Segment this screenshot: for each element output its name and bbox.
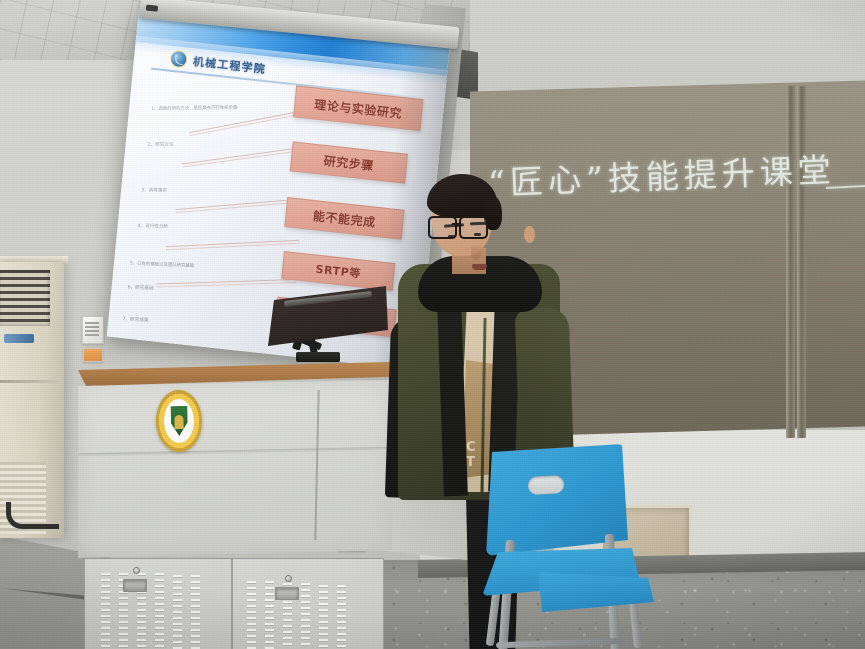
lens-right bbox=[459, 216, 488, 239]
mouth-open-speaking bbox=[472, 264, 487, 270]
glasses-bridge bbox=[452, 223, 461, 225]
wall-notice-plate bbox=[82, 316, 104, 344]
podium-cabinet-door-left[interactable] bbox=[84, 558, 232, 649]
ac-panel-seam bbox=[0, 380, 60, 383]
cabinet-handle-left[interactable] bbox=[123, 579, 147, 592]
cabinet-handle-right[interactable] bbox=[275, 587, 299, 600]
cabinet-lock-right[interactable] bbox=[285, 575, 292, 582]
school-crest-logo bbox=[169, 50, 188, 69]
monitor-base bbox=[296, 352, 340, 362]
nose bbox=[471, 246, 481, 260]
tshirt-letters: C T bbox=[466, 440, 481, 470]
floor-standing-air-conditioner bbox=[0, 262, 64, 538]
wall-warning-plate bbox=[83, 348, 103, 362]
podium-cabinet-door-right[interactable] bbox=[232, 558, 384, 649]
slide-side-label: 1、选题的研究方法、是否具有可行性和价值 bbox=[151, 105, 237, 112]
slide-side-label: 6、研究基础 bbox=[128, 284, 154, 291]
ac-drain-hose bbox=[6, 502, 59, 529]
blackboard-slide-rail bbox=[797, 86, 806, 438]
roller-end-cap bbox=[146, 5, 159, 12]
cabinet-lock-left[interactable] bbox=[133, 567, 140, 574]
eyeglasses bbox=[428, 216, 486, 236]
lens-left bbox=[428, 216, 457, 239]
slide-side-label: 2、研究方法 bbox=[148, 142, 174, 148]
blackboard-slide-rail bbox=[786, 86, 795, 438]
ac-brand-badge bbox=[4, 334, 34, 343]
ear bbox=[524, 226, 535, 243]
slide-side-label: 4、可行性分析 bbox=[138, 223, 169, 230]
ac-outlet-grille bbox=[0, 270, 50, 326]
classroom-photo-scene: “匠心”技能提升课堂 机械工程学院 1、选题的研究方法、是否具有可行性和价值 2… bbox=[0, 0, 865, 649]
seal-inner-disc bbox=[164, 399, 195, 444]
podium-front-panel bbox=[78, 380, 392, 558]
seal-arch-motif bbox=[174, 415, 183, 429]
chair-handle-cutout bbox=[528, 475, 565, 495]
slide-side-label: 3、具体落实 bbox=[141, 187, 167, 194]
